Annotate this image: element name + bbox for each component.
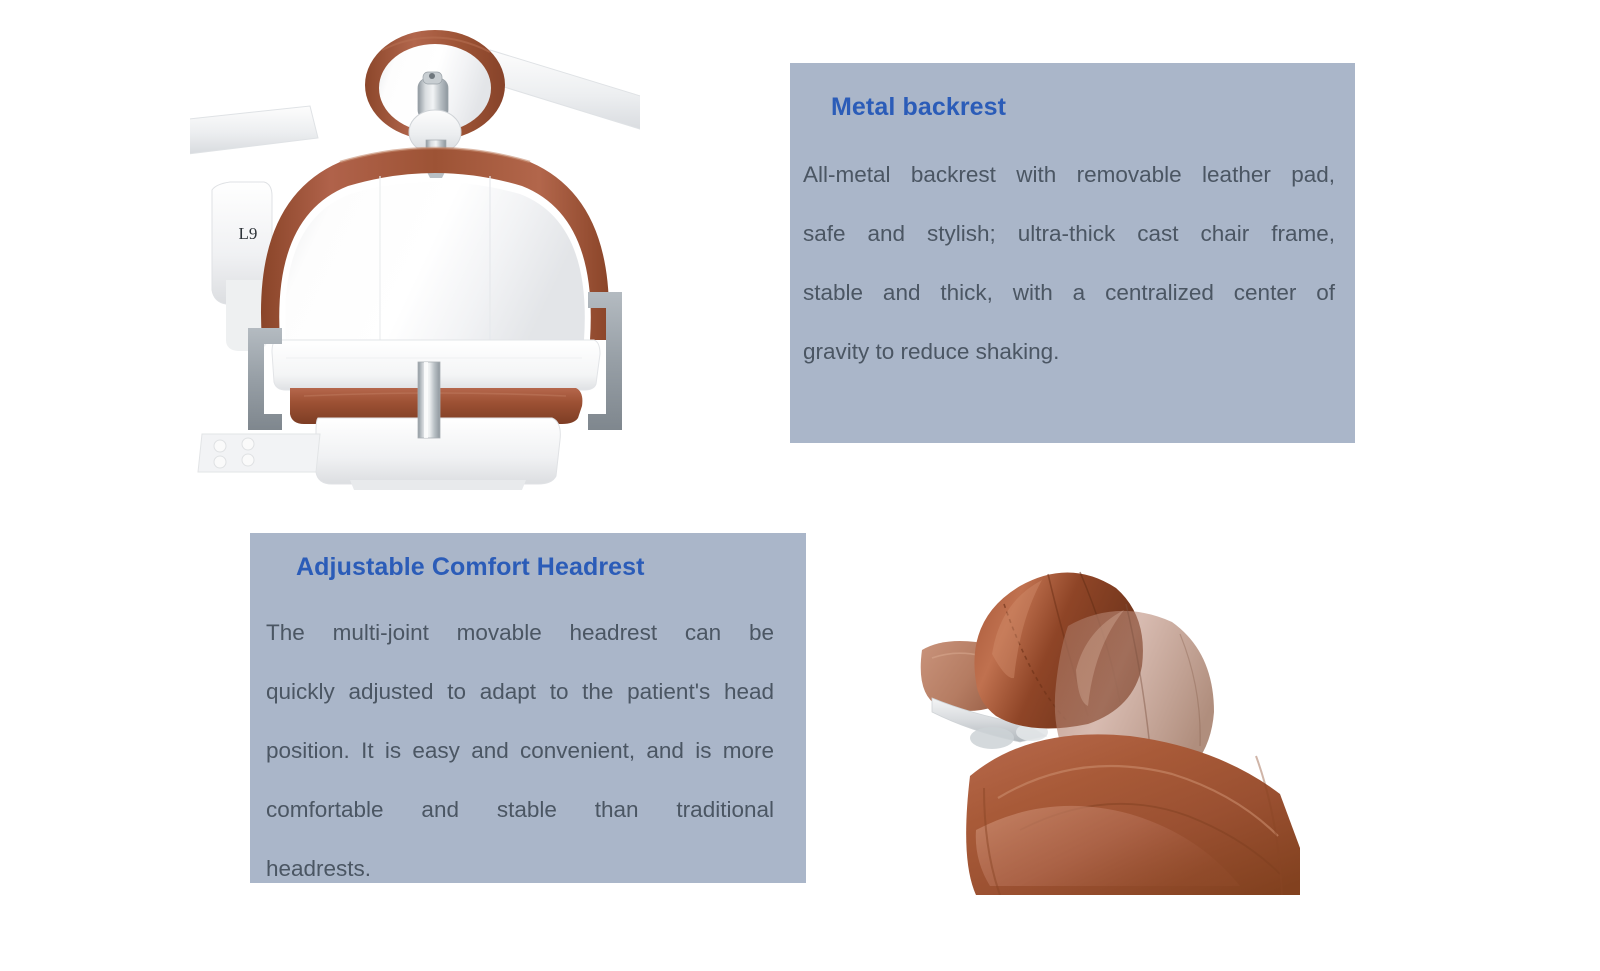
adjustable-comfort-headrest-info-panel: Adjustable Comfort Headrest The multi-jo… (250, 533, 806, 883)
metal-backrest-body: All-metal backrest with removable leathe… (803, 145, 1335, 381)
center-slider (418, 362, 440, 438)
chair-light-arm-left (190, 106, 318, 155)
seat-back-cushion (966, 734, 1300, 895)
body-line: headrests. (266, 839, 774, 898)
chair-headrest-photo (880, 530, 1300, 895)
chair-base-rail (198, 434, 320, 472)
chair-light-arm-right (488, 50, 640, 134)
body-line: stable and thick, with a centralized cen… (803, 263, 1335, 322)
adjustable-comfort-headrest-heading: Adjustable Comfort Headrest (296, 553, 645, 582)
body-line: safe and stylish; ultra-thick cast chair… (803, 204, 1335, 263)
body-line: All-metal backrest with removable leathe… (803, 145, 1335, 204)
chair-model-label: L9 (239, 224, 258, 243)
chair-backrest-photo: L9 (190, 10, 640, 490)
metal-backrest-info-panel: Metal backrest All-metal backrest with r… (790, 63, 1355, 443)
backrest-pad (285, 176, 585, 342)
body-line: comfortable and stable than traditional (266, 780, 774, 839)
body-line: quickly adjusted to adapt to the patient… (266, 662, 774, 721)
body-line: The multi-joint movable headrest can be (266, 603, 774, 662)
body-line: position. It is easy and convenient, and… (266, 721, 774, 780)
adjustable-comfort-headrest-body: The multi-joint movable headrest can be … (266, 603, 774, 898)
body-line: gravity to reduce shaking. (803, 322, 1335, 381)
metal-backrest-heading: Metal backrest (831, 93, 1006, 122)
